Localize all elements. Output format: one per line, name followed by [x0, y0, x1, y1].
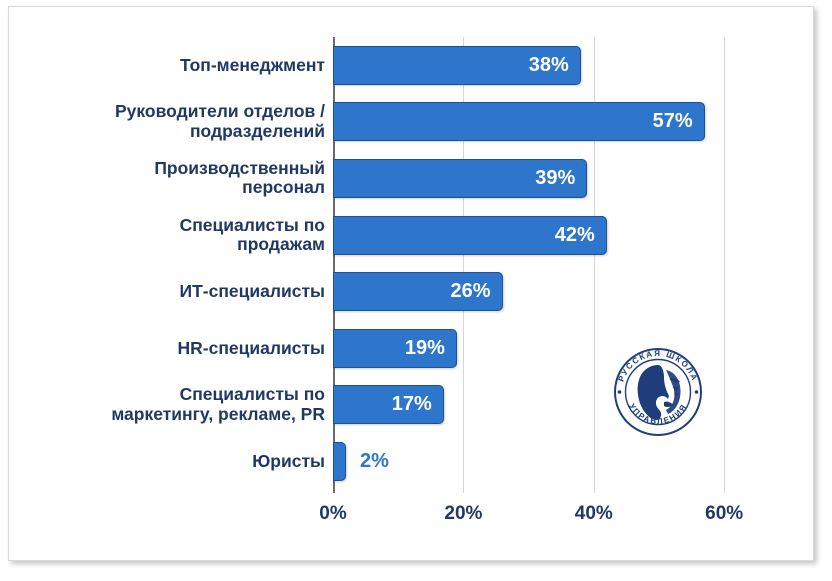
bar-value-label: 38% [9, 54, 569, 77]
chart-row: Топ-менеджмент38% [9, 37, 814, 92]
x-axis-tick-label: 20% [444, 503, 482, 525]
bar-value-label: 2% [360, 450, 389, 473]
x-axis-tick-label: 0% [319, 503, 346, 525]
bar-value-label: 26% [9, 280, 491, 303]
category-label: Юристы [9, 433, 325, 490]
chart-frame: 0%20%40%60%Топ-менеджмент38%Руководители… [8, 6, 814, 561]
chart-row: ИТ-специалисты26% [9, 263, 814, 318]
bar-value-label: 19% [9, 337, 445, 360]
bar-value-label: 42% [9, 224, 595, 247]
bar-value-label: 17% [9, 393, 432, 416]
bar-chart-plot-area: 0%20%40%60%Топ-менеджмент38%Руководители… [9, 7, 814, 561]
organization-logo: РУССКАЯ ШКОЛА УПРАВЛЕНИЯ [606, 340, 710, 444]
bar[interactable] [333, 442, 346, 481]
chart-row: Производственный персонал39% [9, 150, 814, 205]
x-axis-tick-label: 40% [575, 503, 613, 525]
bar-value-label: 39% [9, 167, 575, 190]
x-axis-tick-label: 60% [705, 503, 743, 525]
bar-value-label: 57% [9, 110, 693, 133]
chart-row: Руководители отделов / подразделений57% [9, 94, 814, 149]
chart-row: Специалисты по продажам42% [9, 207, 814, 262]
